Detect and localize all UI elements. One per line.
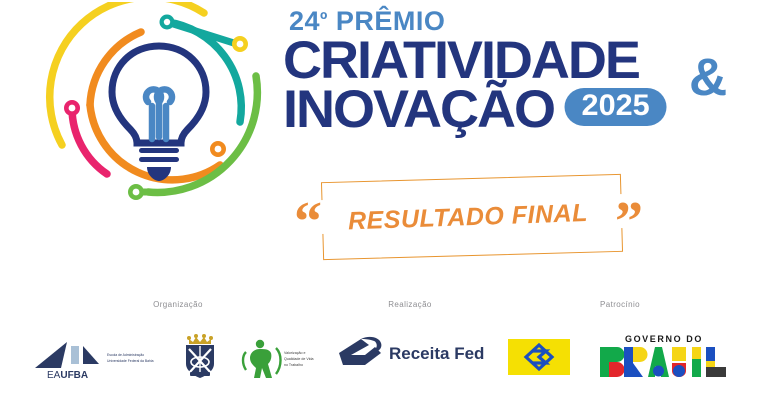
vqvt-logo: Valorização e Qualidade de Vida no Traba…: [238, 334, 330, 380]
lightbulb-innovation-icon: [44, 2, 274, 207]
title-line-2: INOVAÇÃO: [283, 86, 554, 135]
receita-federal-logo: Receita Federal: [335, 331, 485, 371]
quote-open-icon: “: [294, 194, 322, 250]
eaufba-logo: EAUFBA Escola de Administração Universid…: [27, 334, 162, 380]
ordinal-mark: º: [320, 9, 328, 31]
footer-label-patrocinio: Patrocínio: [490, 300, 750, 309]
footer: Organização EAUFBA Escola de Administraç…: [0, 300, 770, 400]
gov-line-top: GOVERNO DO: [625, 334, 703, 344]
eaufba-line-1: Escola de Administração: [107, 353, 144, 357]
title-ampersand: &: [689, 51, 727, 104]
footer-group-patrocinio: Patrocínio GOVERNO DO: [490, 300, 750, 383]
footer-label-realizacao: Realização: [330, 300, 490, 309]
quote-close-icon: ”: [615, 194, 643, 250]
footer-group-organizacao: Organização EAUFBA Escola de Administraç…: [28, 300, 328, 383]
governo-do-brasil-logo: GOVERNO DO: [596, 331, 732, 383]
result-banner: “ ” RESULTADO FINAL: [290, 170, 660, 270]
banco-do-brasil-logo: [508, 337, 570, 377]
vqvt-line-2: Qualidade de Vida: [284, 357, 314, 361]
svg-text:EAUFBA: EAUFBA: [47, 370, 88, 380]
vqvt-line-1: Valorização e: [284, 351, 306, 355]
eaufba-line-2: Universidade Federal da Bahia: [107, 359, 154, 363]
footer-label-organizacao: Organização: [28, 300, 328, 309]
footer-group-realizacao: Realização Receita Federal: [330, 300, 490, 371]
vqvt-line-3: no Trabalho: [284, 363, 303, 367]
poster-canvas: 24º PRÊMIO CRIATIVIDADE INOVAÇÃO 2025 & …: [0, 0, 770, 400]
ufba-crest-logo: [176, 331, 224, 383]
title-block: 24º PRÊMIO CRIATIVIDADE INOVAÇÃO 2025 &: [283, 4, 763, 135]
receita-wordmark: Receita Federal: [389, 344, 485, 363]
year-badge: 2025: [564, 88, 667, 126]
